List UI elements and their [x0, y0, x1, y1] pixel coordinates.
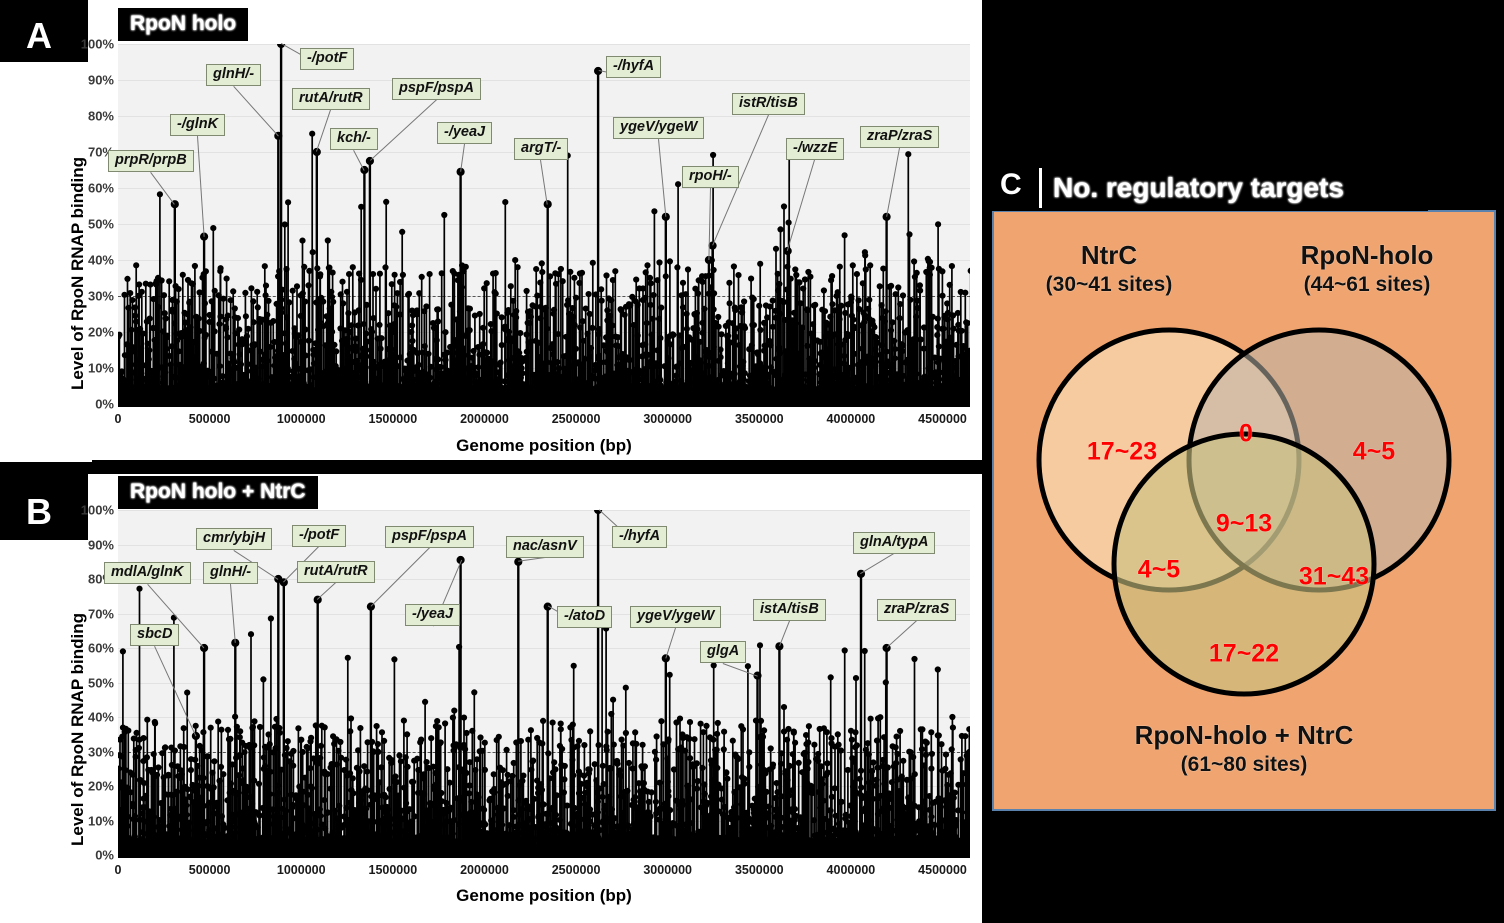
venn-value-all-three: 9~13 [1216, 510, 1272, 539]
x-axis-tick-label: 1500000 [368, 412, 417, 426]
callout-label-yeaj: -/yeaJ [437, 122, 492, 144]
venn-value-ntrc-rponholo: 0 [1239, 420, 1253, 449]
x-axis-tick-label: 0 [115, 412, 122, 426]
panel-b-x-axis-line [118, 855, 970, 858]
callout-label-glnh: glnH/- [206, 64, 261, 86]
y-axis-tick-label: 60% [88, 641, 114, 656]
panel-c-letter: C [1000, 170, 1022, 200]
callout-label-hyfa: -/hyfA [606, 56, 661, 78]
y-axis-tick-label: 40% [88, 710, 114, 725]
callout-label-ygev-ygew: ygeV/ygeW [613, 117, 704, 139]
x-axis-tick-label: 2500000 [552, 412, 601, 426]
panel-a-x-axis-line [118, 404, 970, 407]
venn-set-sites-ntrc: (30~41 sites) [1004, 273, 1214, 297]
y-axis-tick-label: 90% [88, 73, 114, 88]
callout-label-pspf-pspa: pspF/pspA [392, 78, 481, 100]
panel-b-chart: Level of RpoN RNAP binding 0%10%20%30%40… [0, 474, 1000, 923]
y-axis-tick-label: 90% [88, 537, 114, 552]
x-axis-tick-label: 3500000 [735, 412, 784, 426]
panel-c-header-divider [1039, 168, 1042, 208]
y-axis-tick-label: 50% [88, 217, 114, 232]
x-axis-tick-label: 4500000 [918, 863, 967, 877]
panel-a-title-badge: RpoN holo [118, 8, 248, 41]
callout-label-ista-tisb: istA/tisB [753, 599, 826, 621]
venn-set-label-rponholo: RpoN-holo (44~61 sites) [1252, 240, 1482, 297]
y-axis-tick-label: 10% [88, 361, 114, 376]
x-axis-tick-label: 3500000 [735, 863, 784, 877]
panel-a-chart: Level of RpoN RNAP binding 0%10%20%30%40… [0, 0, 1000, 470]
callout-label-potf: -/potF [300, 48, 354, 70]
x-axis-tick-label: 500000 [189, 412, 231, 426]
panel-b-x-axis-title: Genome position (bp) [118, 886, 970, 906]
panel-a-plot-area [118, 44, 970, 404]
venn-set-name-rponholo-ntrc: RpoN-holo + NtrC [1034, 720, 1454, 751]
panel-b-title-badge: RpoN holo + NtrC [118, 476, 318, 509]
callout-label-prpr-prpb: prpR/prpB [108, 150, 194, 172]
callout-label-istr-tisb: istR/tisB [732, 93, 805, 115]
y-axis-tick-label: 30% [88, 744, 114, 759]
y-axis-tick-label: 70% [88, 606, 114, 621]
y-axis-tick-label: 0% [95, 397, 114, 412]
x-axis-tick-label: 4000000 [827, 863, 876, 877]
callout-label-sbcd: sbcD [130, 624, 179, 646]
callout-label-zrap-zras: zraP/zraS [877, 599, 956, 621]
venn-set-sites-rponholo-ntrc: (61~80 sites) [1034, 753, 1454, 777]
y-axis-tick-label: 20% [88, 779, 114, 794]
y-axis-tick-label: 80% [88, 109, 114, 124]
y-axis-tick-label: 60% [88, 181, 114, 196]
callout-label-nac-asnv: nac/asnV [506, 536, 584, 558]
callout-label-ruta-rutr: rutA/rutR [297, 561, 375, 583]
callout-label-pspf-pspa: pspF/pspA [385, 526, 474, 548]
y-axis-tick-label: 0% [95, 848, 114, 863]
callout-label-cmr-ybjh: cmr/ybjH [196, 528, 272, 550]
panel-a-letter: A [26, 18, 52, 54]
venn-value-ntrc-only: 17~23 [1087, 438, 1157, 467]
callout-label-potf: -/potF [292, 525, 346, 547]
callout-label-ygev-ygew: ygeV/ygeW [630, 606, 721, 628]
panel-c-title: No. regulatory targets [1053, 172, 1344, 204]
venn-value-rponholo-both: 31~43 [1299, 563, 1369, 592]
callout-label-atod: -/atoD [557, 606, 612, 628]
venn-value-ntrc-both: 4~5 [1138, 556, 1180, 585]
y-axis-tick-label: 100% [81, 503, 114, 518]
y-axis-tick-label: 10% [88, 813, 114, 828]
panel-a-x-ticks: 0500000100000015000002000000250000030000… [118, 412, 970, 430]
x-axis-tick-label: 4000000 [827, 412, 876, 426]
venn-value-rponholo-only: 4~5 [1353, 438, 1395, 467]
panel-b-letter: B [26, 494, 52, 530]
callout-label-glnk: -/glnK [170, 114, 225, 136]
x-axis-tick-label: 1000000 [277, 863, 326, 877]
venn-set-name-rponholo: RpoN-holo [1252, 240, 1482, 271]
callout-label-zrap-zras: zraP/zraS [860, 126, 939, 148]
x-axis-tick-label: 0 [115, 863, 122, 877]
callout-label-glga: glgA [700, 641, 746, 663]
venn-set-sites-rponholo: (44~61 sites) [1252, 273, 1482, 297]
venn-set-label-rponholo-ntrc: RpoN-holo + NtrC (61~80 sites) [1034, 720, 1454, 777]
x-axis-tick-label: 3000000 [643, 412, 692, 426]
callout-label-mdla-glnk: mdlA/glnK [104, 562, 191, 584]
y-axis-tick-label: 30% [88, 289, 114, 304]
panel-b-x-ticks: 0500000100000015000002000000250000030000… [118, 863, 970, 881]
callout-label-ruta-rutr: rutA/rutR [292, 88, 370, 110]
panel-a-x-axis-title: Genome position (bp) [118, 436, 970, 456]
y-axis-tick-label: 50% [88, 675, 114, 690]
callout-label-yeaj: -/yeaJ [405, 604, 460, 626]
callout-label-kch: kch/- [330, 128, 378, 150]
venn-set-label-ntrc: NtrC (30~41 sites) [1004, 240, 1214, 297]
x-axis-tick-label: 1500000 [368, 863, 417, 877]
x-axis-tick-label: 1000000 [277, 412, 326, 426]
y-axis-tick-label: 20% [88, 325, 114, 340]
x-axis-tick-label: 3000000 [643, 863, 692, 877]
callout-label-glnh: glnH/- [203, 562, 258, 584]
callout-label-rpoh: rpoH/- [682, 166, 739, 188]
y-axis-tick-label: 40% [88, 253, 114, 268]
callout-label-hyfa: -/hyfA [612, 526, 667, 548]
venn-set-name-ntrc: NtrC [1004, 240, 1214, 271]
x-axis-tick-label: 4500000 [918, 412, 967, 426]
x-axis-tick-label: 2000000 [460, 863, 509, 877]
stem-series [118, 44, 970, 404]
callout-label-glna-typa: glnA/typA [853, 532, 935, 554]
y-axis-tick-label: 100% [81, 37, 114, 52]
x-axis-tick-label: 2500000 [552, 863, 601, 877]
x-axis-tick-label: 2000000 [460, 412, 509, 426]
callout-label-wzze: -/wzzE [786, 138, 844, 160]
panel-c-venn-panel: NtrC (30~41 sites) RpoN-holo (44~61 site… [992, 210, 1496, 811]
panel-a-y-ticks: 0%10%20%30%40%50%60%70%80%90%100% [70, 44, 114, 404]
callout-label-argt: argT/- [514, 138, 568, 160]
x-axis-tick-label: 500000 [189, 863, 231, 877]
venn-value-both-only: 17~22 [1209, 640, 1279, 669]
